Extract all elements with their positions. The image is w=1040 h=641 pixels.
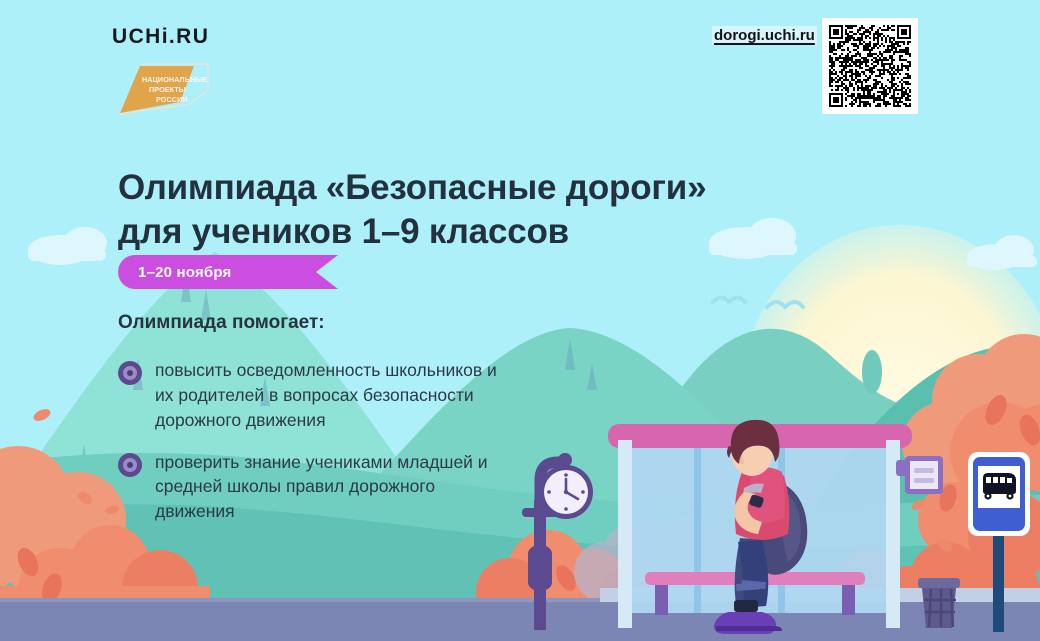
national-projects-logo: НАЦИОНАЛЬНЫЕ ПРОЕКТЫ РОССИИ [116,60,212,118]
poster-root: UCHi.RU НАЦИОНАЛЬНЫЕ ПРОЕКТЫ РОССИИ doro… [0,0,1040,641]
benefits-list: повысить осведомленность школьников и их… [118,358,518,541]
page-title-line2: для учеников 1–9 классов [118,210,818,253]
list-item-label: повысить осведомленность школьников и их… [155,358,518,433]
natproj-line3: РОССИИ [156,95,188,104]
natproj-line1: НАЦИОНАЛЬНЫЕ [142,75,207,84]
bullet-ring-icon [118,361,142,385]
list-item: повысить осведомленность школьников и их… [118,358,518,433]
date-badge-label: 1–20 ноября [138,264,232,281]
list-item-label: проверить знание учениками младшей и сре… [155,450,518,525]
page-title-line1: Олимпиада «Безопасные дороги» [118,168,706,207]
shelter-post-left [618,440,632,628]
site-url-link[interactable]: dorogi.uchi.ru [712,26,817,45]
benefits-heading: Олимпиада помогает: [118,312,325,334]
page-title: Олимпиада «Безопасные дороги» для ученик… [118,166,818,253]
hill-detail [862,350,882,394]
uchi-logo[interactable]: UCHi.RU [112,26,209,47]
natproj-line2: ПРОЕКТЫ [149,85,186,94]
uchi-wordmark: UCHi.RU [112,26,209,47]
date-badge: 1–20 ноября [118,255,338,289]
bullet-ring-icon [118,453,142,477]
list-item: проверить знание учениками младшей и сре… [118,450,518,525]
qr-code-icon[interactable] [822,18,918,114]
